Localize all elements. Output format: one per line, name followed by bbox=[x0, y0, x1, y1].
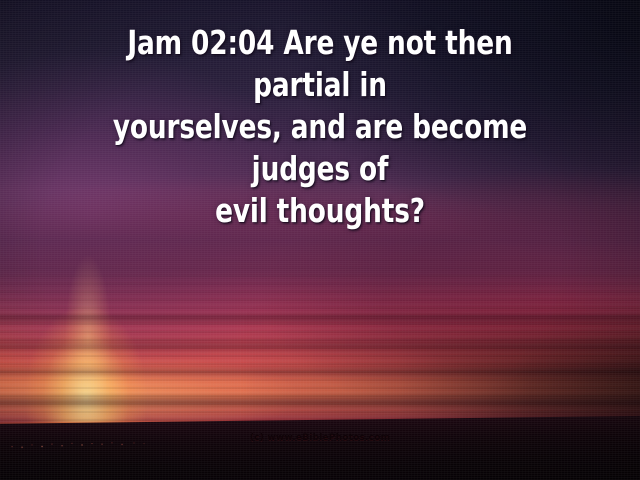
watermark-text: (c) www.eBiblePhotos.com bbox=[0, 433, 640, 443]
verse-line-1: Jam 02:04 Are ye not then partial in bbox=[75, 22, 565, 106]
verse-image-canvas: Jam 02:04 Are ye not then partial in you… bbox=[0, 0, 640, 480]
verse-line-3: evil thoughts? bbox=[75, 190, 565, 232]
verse-text: Jam 02:04 Are ye not then partial in you… bbox=[64, 22, 576, 232]
verse-line-2: yourselves, and are become judges of bbox=[75, 106, 565, 190]
